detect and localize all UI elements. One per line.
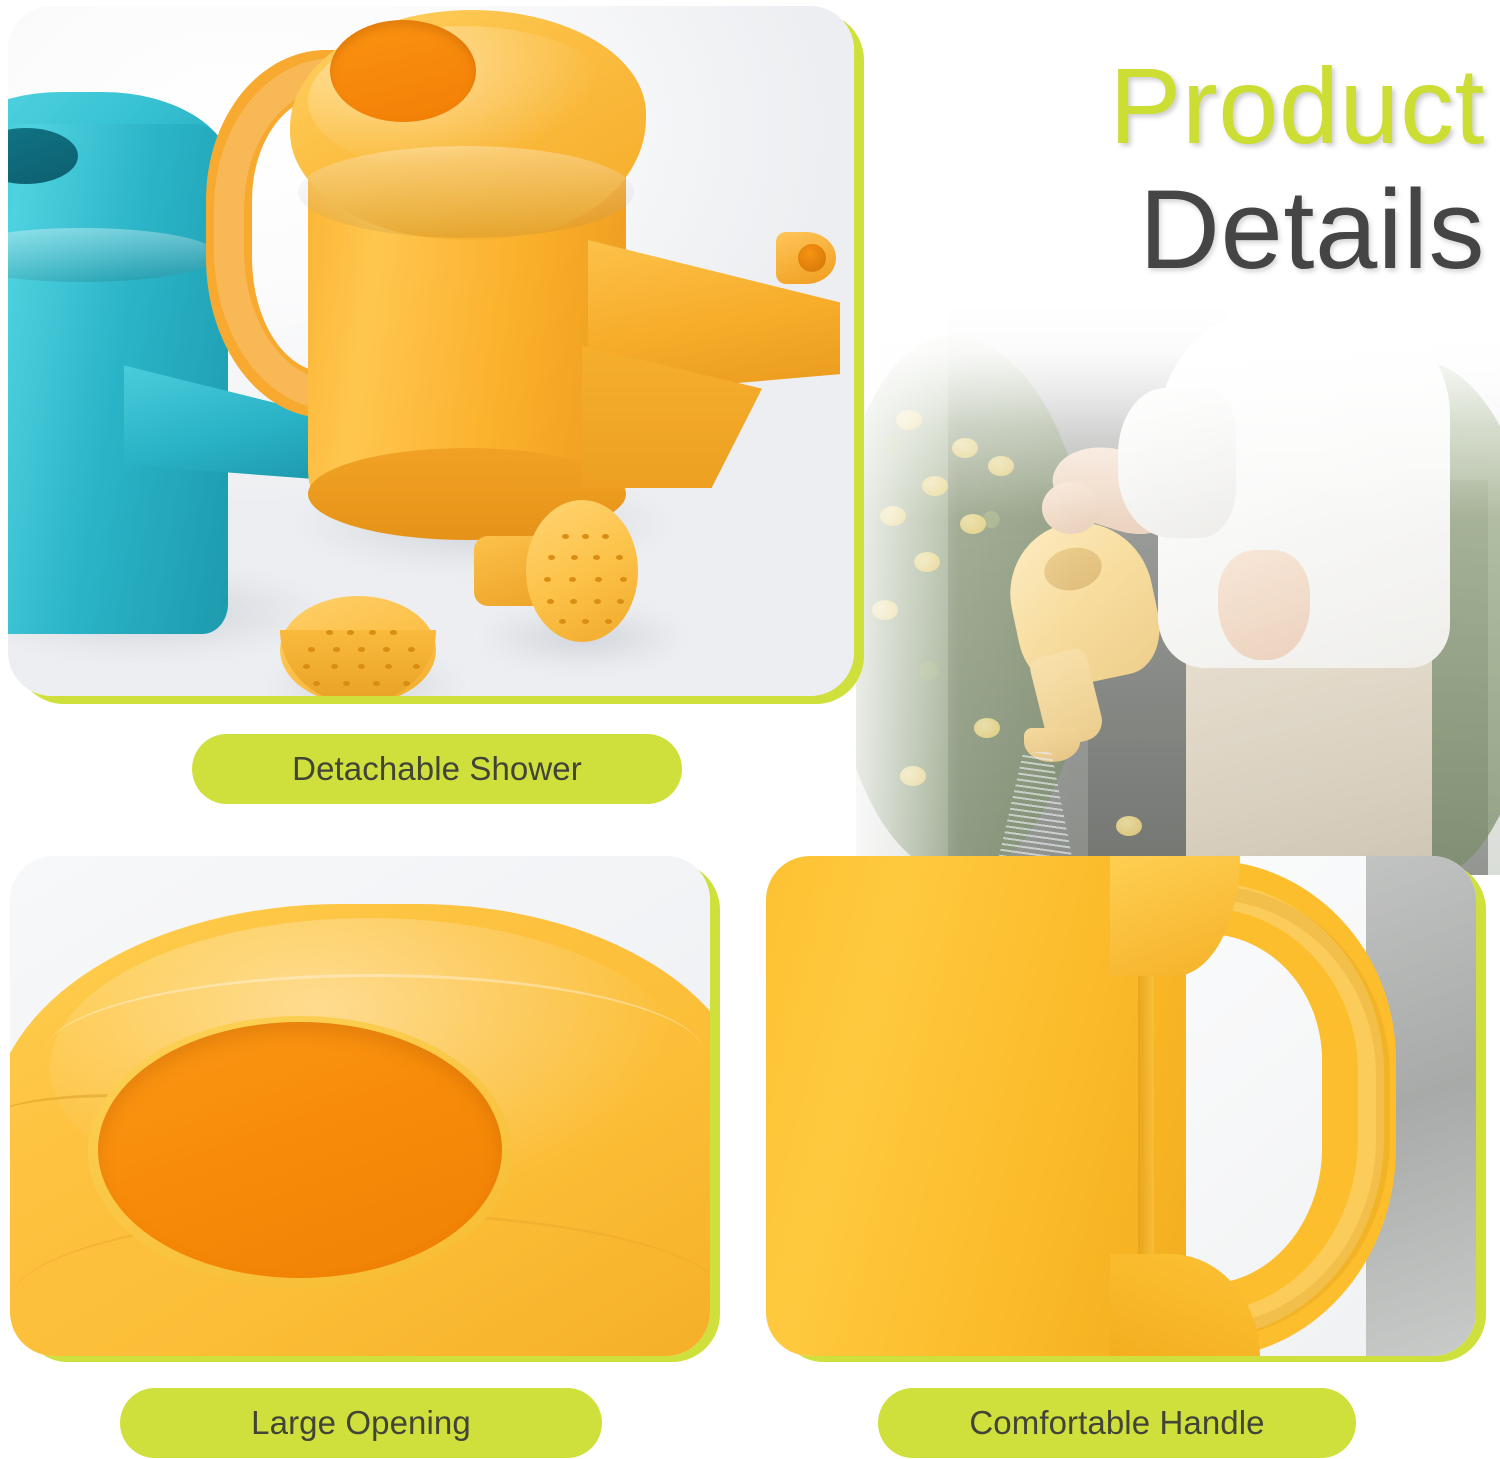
infographic-canvas: Product Details xyxy=(0,0,1500,1459)
label-text: Comfortable Handle xyxy=(969,1404,1264,1442)
label-detachable-shower[interactable]: Detachable Shower xyxy=(192,734,682,804)
orange-can-shoulder xyxy=(298,146,634,238)
teal-can-body xyxy=(8,124,228,634)
comfortable-handle-panel[interactable] xyxy=(766,856,1476,1356)
label-comfortable-handle[interactable]: Comfortable Handle xyxy=(878,1388,1356,1458)
large-opening-panel[interactable] xyxy=(10,856,710,1356)
label-text: Detachable Shower xyxy=(292,750,582,788)
label-text: Large Opening xyxy=(251,1404,471,1442)
label-large-opening[interactable]: Large Opening xyxy=(120,1388,602,1458)
lifestyle-photo xyxy=(856,300,1500,875)
detachable-shower-panel[interactable] xyxy=(8,6,854,696)
can-large-opening xyxy=(98,1022,502,1278)
orange-can-nozzle-opening xyxy=(798,244,826,272)
page-title: Product Details xyxy=(905,52,1485,286)
photo-left-fade-overlay xyxy=(856,300,1500,875)
orange-can-opening xyxy=(330,20,476,122)
title-line-details: Details xyxy=(905,174,1485,286)
title-line-product: Product xyxy=(905,52,1485,160)
